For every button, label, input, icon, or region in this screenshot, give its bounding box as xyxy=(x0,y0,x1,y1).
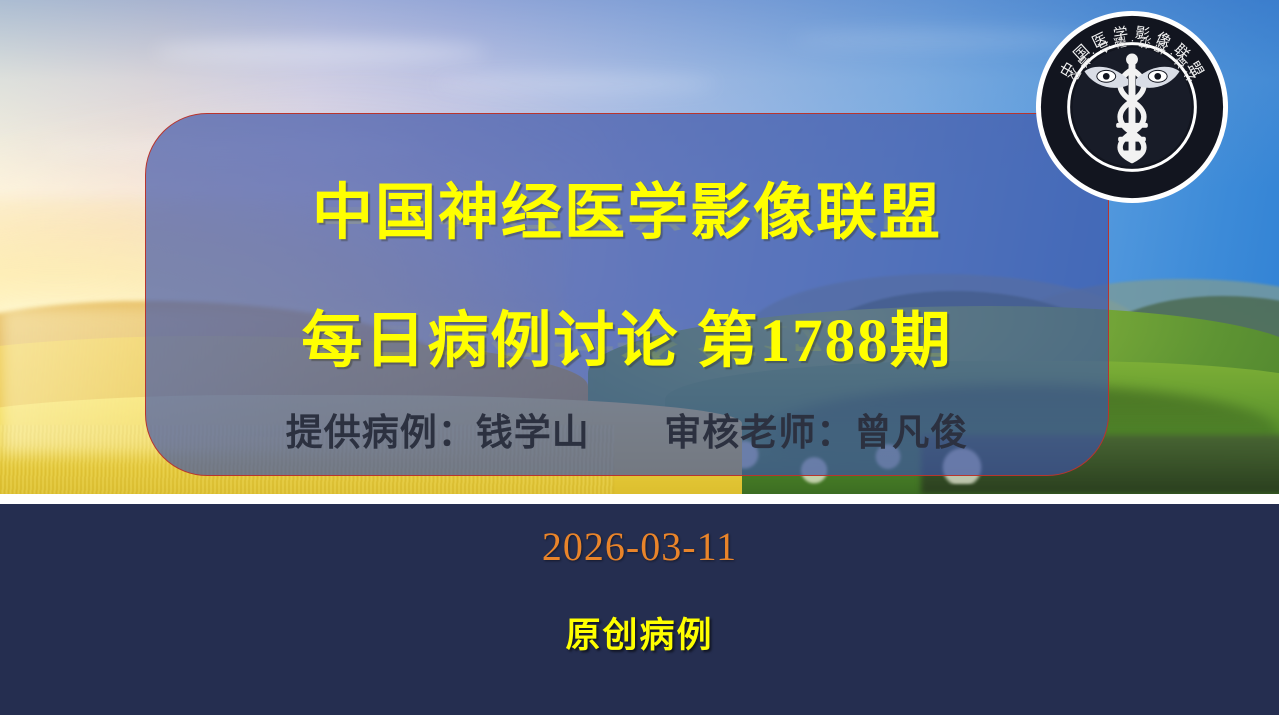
presentation-slide: 中国神经医学影像联盟 中国神经医学影像联盟 每日病例讨论 第1788期 每日病例… xyxy=(0,0,1279,715)
credits-line: 提供病例：钱学山 审核老师：曾凡俊 xyxy=(146,402,1108,456)
date-text: 2026-03-11 xyxy=(0,523,1279,570)
credits-provider: 提供病例：钱学山 xyxy=(286,413,590,454)
title-line-1: 中国神经医学影像联盟 xyxy=(146,162,1108,251)
original-case-label: 原创病例 xyxy=(0,607,1279,658)
alliance-logo: 中 国 医 学 影 像 联 盟 公 益 · 规 范 · 融 合 · 普 及 xyxy=(1033,8,1231,206)
title-panel: 中国神经医学影像联盟 中国神经医学影像联盟 每日病例讨论 第1788期 每日病例… xyxy=(145,113,1109,476)
credits-reviewer: 审核老师：曾凡俊 xyxy=(664,413,968,454)
cloud-wisp xyxy=(435,74,716,94)
title-line-2: 每日病例讨论 第1788期 xyxy=(146,290,1108,379)
divider-line xyxy=(0,494,1279,504)
cloud-wisp xyxy=(153,40,486,65)
